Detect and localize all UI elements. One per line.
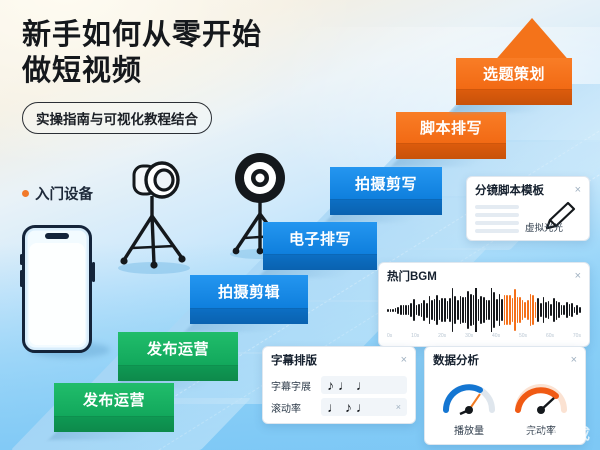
close-icon[interactable]: ×	[575, 185, 581, 196]
audio-waveform[interactable]	[387, 288, 581, 332]
subtitle-row-1: 字幕字展 ♪ ♩ ♩	[271, 376, 407, 394]
step-block-4[interactable]: 电子排写	[263, 222, 377, 254]
page-title: 新手如何从零开始 做短视频 实操指南与可视化教程结合	[22, 18, 352, 134]
card-title: 分镜脚本模板	[475, 182, 544, 198]
row-close-icon[interactable]: ×	[396, 403, 401, 412]
step-block-1[interactable]: 发布运营	[54, 383, 174, 416]
card-header: 数据分析 ×	[425, 347, 585, 370]
subtitle-row-2: 滚动率 ♩ ♪ ♩ ×	[271, 398, 407, 416]
watermark: 豆包AI生成	[505, 423, 592, 444]
step-side-face	[54, 416, 174, 432]
step-label-2: 发布运营	[118, 332, 238, 365]
step-label-3: 拍摄剪辑	[190, 275, 308, 308]
entry-device-label: 入门设备	[22, 183, 93, 204]
row-value[interactable]: ♪ ♩ ♩	[321, 376, 407, 394]
waveform-axis: 0s10s20s30s40s50s60s70s	[387, 332, 581, 339]
step-side-face	[118, 365, 238, 381]
step-label-7: 选题策划	[456, 58, 572, 89]
phone-notch	[45, 233, 69, 239]
step-block-2[interactable]: 发布运营	[118, 332, 238, 365]
subtitle-pill: 实操指南与可视化教程结合	[22, 102, 212, 134]
step-block-5[interactable]: 拍摄剪写	[330, 167, 442, 199]
phone-button-left-1	[20, 254, 23, 265]
row-notes: ♩ ♪ ♩	[327, 400, 370, 414]
bullet-dot-icon	[22, 190, 29, 197]
row-key: 滚动率	[271, 400, 315, 415]
phone-screen	[29, 243, 85, 345]
title-line-1: 新手如何从零开始	[22, 19, 262, 51]
step-side-face	[396, 143, 506, 159]
step-label-4: 电子排写	[263, 222, 377, 254]
step-label-6: 脚本排写	[396, 112, 506, 143]
step-block-6[interactable]: 脚本排写	[396, 112, 506, 143]
step-label-1: 发布运营	[54, 383, 174, 416]
gauge-plays: 播放量	[440, 374, 498, 437]
entry-device-text: 入门设备	[35, 183, 93, 204]
row-value[interactable]: ♩ ♪ ♩ ×	[321, 398, 407, 416]
card-header: 分镜脚本模板 ×	[467, 177, 589, 200]
card-subtitle-layout[interactable]: 字幕排版 × 字幕字展 ♪ ♩ ♩ 滚动率 ♩ ♪ ♩ ×	[262, 346, 416, 424]
infographic-canvas: 新手如何从零开始 做短视频 实操指南与可视化教程结合 入门设备 发布运营 发布运…	[0, 0, 600, 450]
step-block-3[interactable]: 拍摄剪辑	[190, 275, 308, 308]
row-key: 字幕字展	[271, 378, 315, 393]
spot-light-tripod-icon	[108, 160, 200, 275]
card-bgm[interactable]: 热门BGM × 0s10s20s30s40s50s60s70s	[378, 262, 590, 347]
step-block-7[interactable]: 选题策划	[456, 58, 572, 89]
card-title: 热门BGM	[387, 268, 437, 284]
card-body: 0s10s20s30s40s50s60s70s	[379, 286, 589, 346]
card-body: 虚拟光光	[467, 200, 589, 240]
phone-button-left-2	[20, 270, 23, 287]
card-title: 数据分析	[433, 352, 479, 368]
card-title: 字幕排版	[271, 352, 317, 368]
close-icon[interactable]: ×	[571, 355, 577, 366]
step-side-face	[190, 308, 308, 324]
card-caption: 虚拟光光	[525, 220, 563, 234]
gauge-label: 播放量	[440, 422, 498, 437]
smartphone-icon	[22, 225, 92, 353]
step-side-face	[456, 89, 572, 105]
card-body: 字幕字展 ♪ ♩ ♩ 滚动率 ♩ ♪ ♩ ×	[263, 370, 415, 423]
card-header: 字幕排版 ×	[263, 347, 415, 370]
placeholder-lines	[475, 202, 519, 233]
step-side-face	[263, 254, 377, 270]
close-icon[interactable]: ×	[575, 271, 581, 282]
card-storyboard[interactable]: 分镜脚本模板 × 虚拟光光	[466, 176, 590, 241]
card-header: 热门BGM ×	[379, 263, 589, 286]
close-icon[interactable]: ×	[401, 355, 407, 366]
phone-button-right	[92, 262, 95, 282]
step-label-5: 拍摄剪写	[330, 167, 442, 199]
step-side-face	[330, 199, 442, 215]
title-line-2: 做短视频	[22, 55, 142, 87]
